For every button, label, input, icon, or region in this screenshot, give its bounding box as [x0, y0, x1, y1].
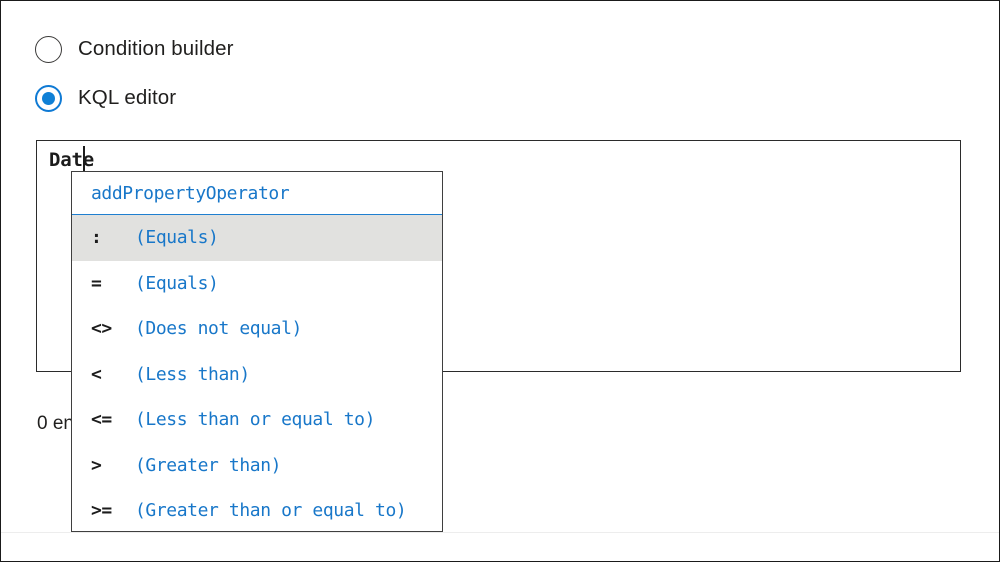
autocomplete-list: : (Equals) = (Equals) <> (Does not equal…	[72, 215, 442, 532]
radio-option-kql-editor[interactable]: KQL editor	[35, 84, 176, 112]
page-divider	[1, 532, 999, 533]
autocomplete-item[interactable]: > (Greater than)	[72, 443, 442, 489]
radio-label-condition-builder: Condition builder	[78, 37, 234, 61]
autocomplete-item[interactable]: >= (Greater than or equal to)	[72, 488, 442, 532]
autocomplete-item-operator: :	[72, 227, 135, 248]
autocomplete-item-operator: <	[72, 364, 135, 385]
radio-checked-icon[interactable]	[35, 85, 62, 112]
autocomplete-item-description: (Greater than)	[135, 455, 281, 476]
radio-label-kql-editor: KQL editor	[78, 86, 176, 110]
autocomplete-item-description: (Less than)	[135, 364, 250, 385]
autocomplete-header-label: addPropertyOperator	[91, 183, 289, 204]
autocomplete-header: addPropertyOperator	[72, 172, 442, 215]
kql-editor-page: Condition builder KQL editor 0 en Date a…	[0, 0, 1000, 562]
autocomplete-item-description: (Equals)	[135, 273, 219, 294]
autocomplete-item-description: (Less than or equal to)	[135, 409, 375, 430]
autocomplete-item-operator: =	[72, 273, 135, 294]
autocomplete-popup: addPropertyOperator : (Equals) = (Equals…	[71, 171, 443, 532]
radio-option-condition-builder[interactable]: Condition builder	[35, 35, 234, 63]
autocomplete-item-description: (Equals)	[135, 227, 219, 248]
results-count-status: 0 en	[37, 413, 74, 435]
autocomplete-item[interactable]: : (Equals)	[72, 215, 442, 261]
radio-unchecked-icon[interactable]	[35, 36, 62, 63]
autocomplete-item-description: (Does not equal)	[135, 318, 302, 339]
autocomplete-item[interactable]: <> (Does not equal)	[72, 306, 442, 352]
autocomplete-item[interactable]: < (Less than)	[72, 352, 442, 398]
autocomplete-item[interactable]: = (Equals)	[72, 261, 442, 307]
kql-editor-text: Date	[49, 149, 94, 171]
autocomplete-item[interactable]: <= (Less than or equal to)	[72, 397, 442, 443]
autocomplete-item-operator: <>	[72, 318, 135, 339]
autocomplete-item-operator: <=	[72, 409, 135, 430]
text-caret	[83, 146, 85, 173]
autocomplete-item-description: (Greater than or equal to)	[135, 500, 406, 521]
autocomplete-item-operator: >=	[72, 500, 135, 521]
autocomplete-item-operator: >	[72, 455, 135, 476]
